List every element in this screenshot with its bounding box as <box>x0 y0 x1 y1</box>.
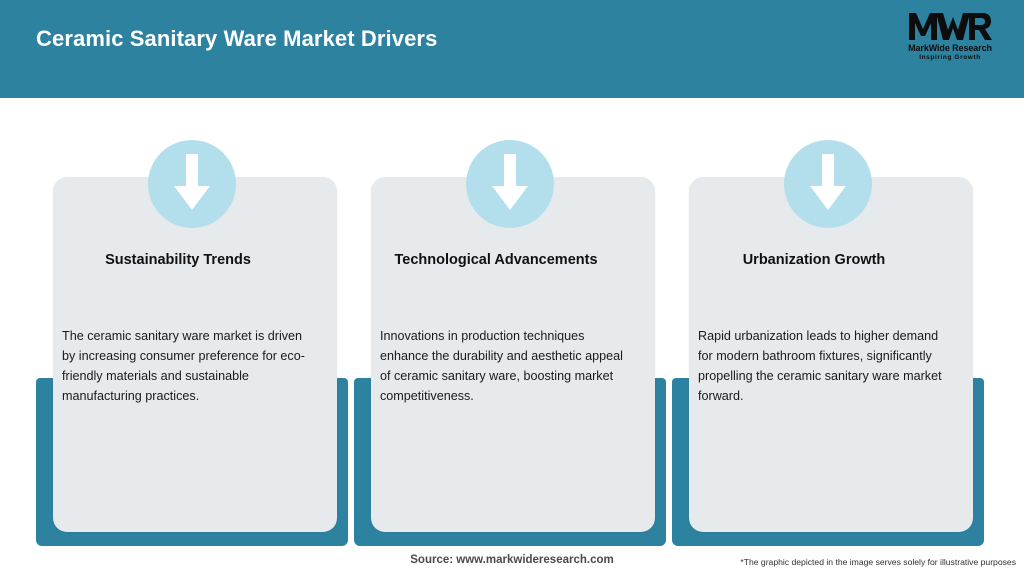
driver-card[interactable]: Sustainability Trends The ceramic sanita… <box>36 140 348 546</box>
driver-cards-container: Sustainability Trends The ceramic sanita… <box>0 0 1024 576</box>
card-title: Technological Advancements <box>364 252 628 269</box>
disclaimer-label: *The graphic depicted in the image serve… <box>740 557 1016 567</box>
down-arrow-icon <box>148 140 236 228</box>
card-title: Urbanization Growth <box>682 252 946 269</box>
driver-card[interactable]: Technological Advancements Innovations i… <box>354 140 666 546</box>
down-arrow-icon <box>784 140 872 228</box>
card-description: Rapid urbanization leads to higher deman… <box>698 327 950 407</box>
driver-card[interactable]: Urbanization Growth Rapid urbanization l… <box>672 140 984 546</box>
card-description: Innovations in production techniques enh… <box>380 327 632 407</box>
down-arrow-icon <box>466 140 554 228</box>
card-title: Sustainability Trends <box>46 252 310 269</box>
card-description: The ceramic sanitary ware market is driv… <box>62 327 314 407</box>
